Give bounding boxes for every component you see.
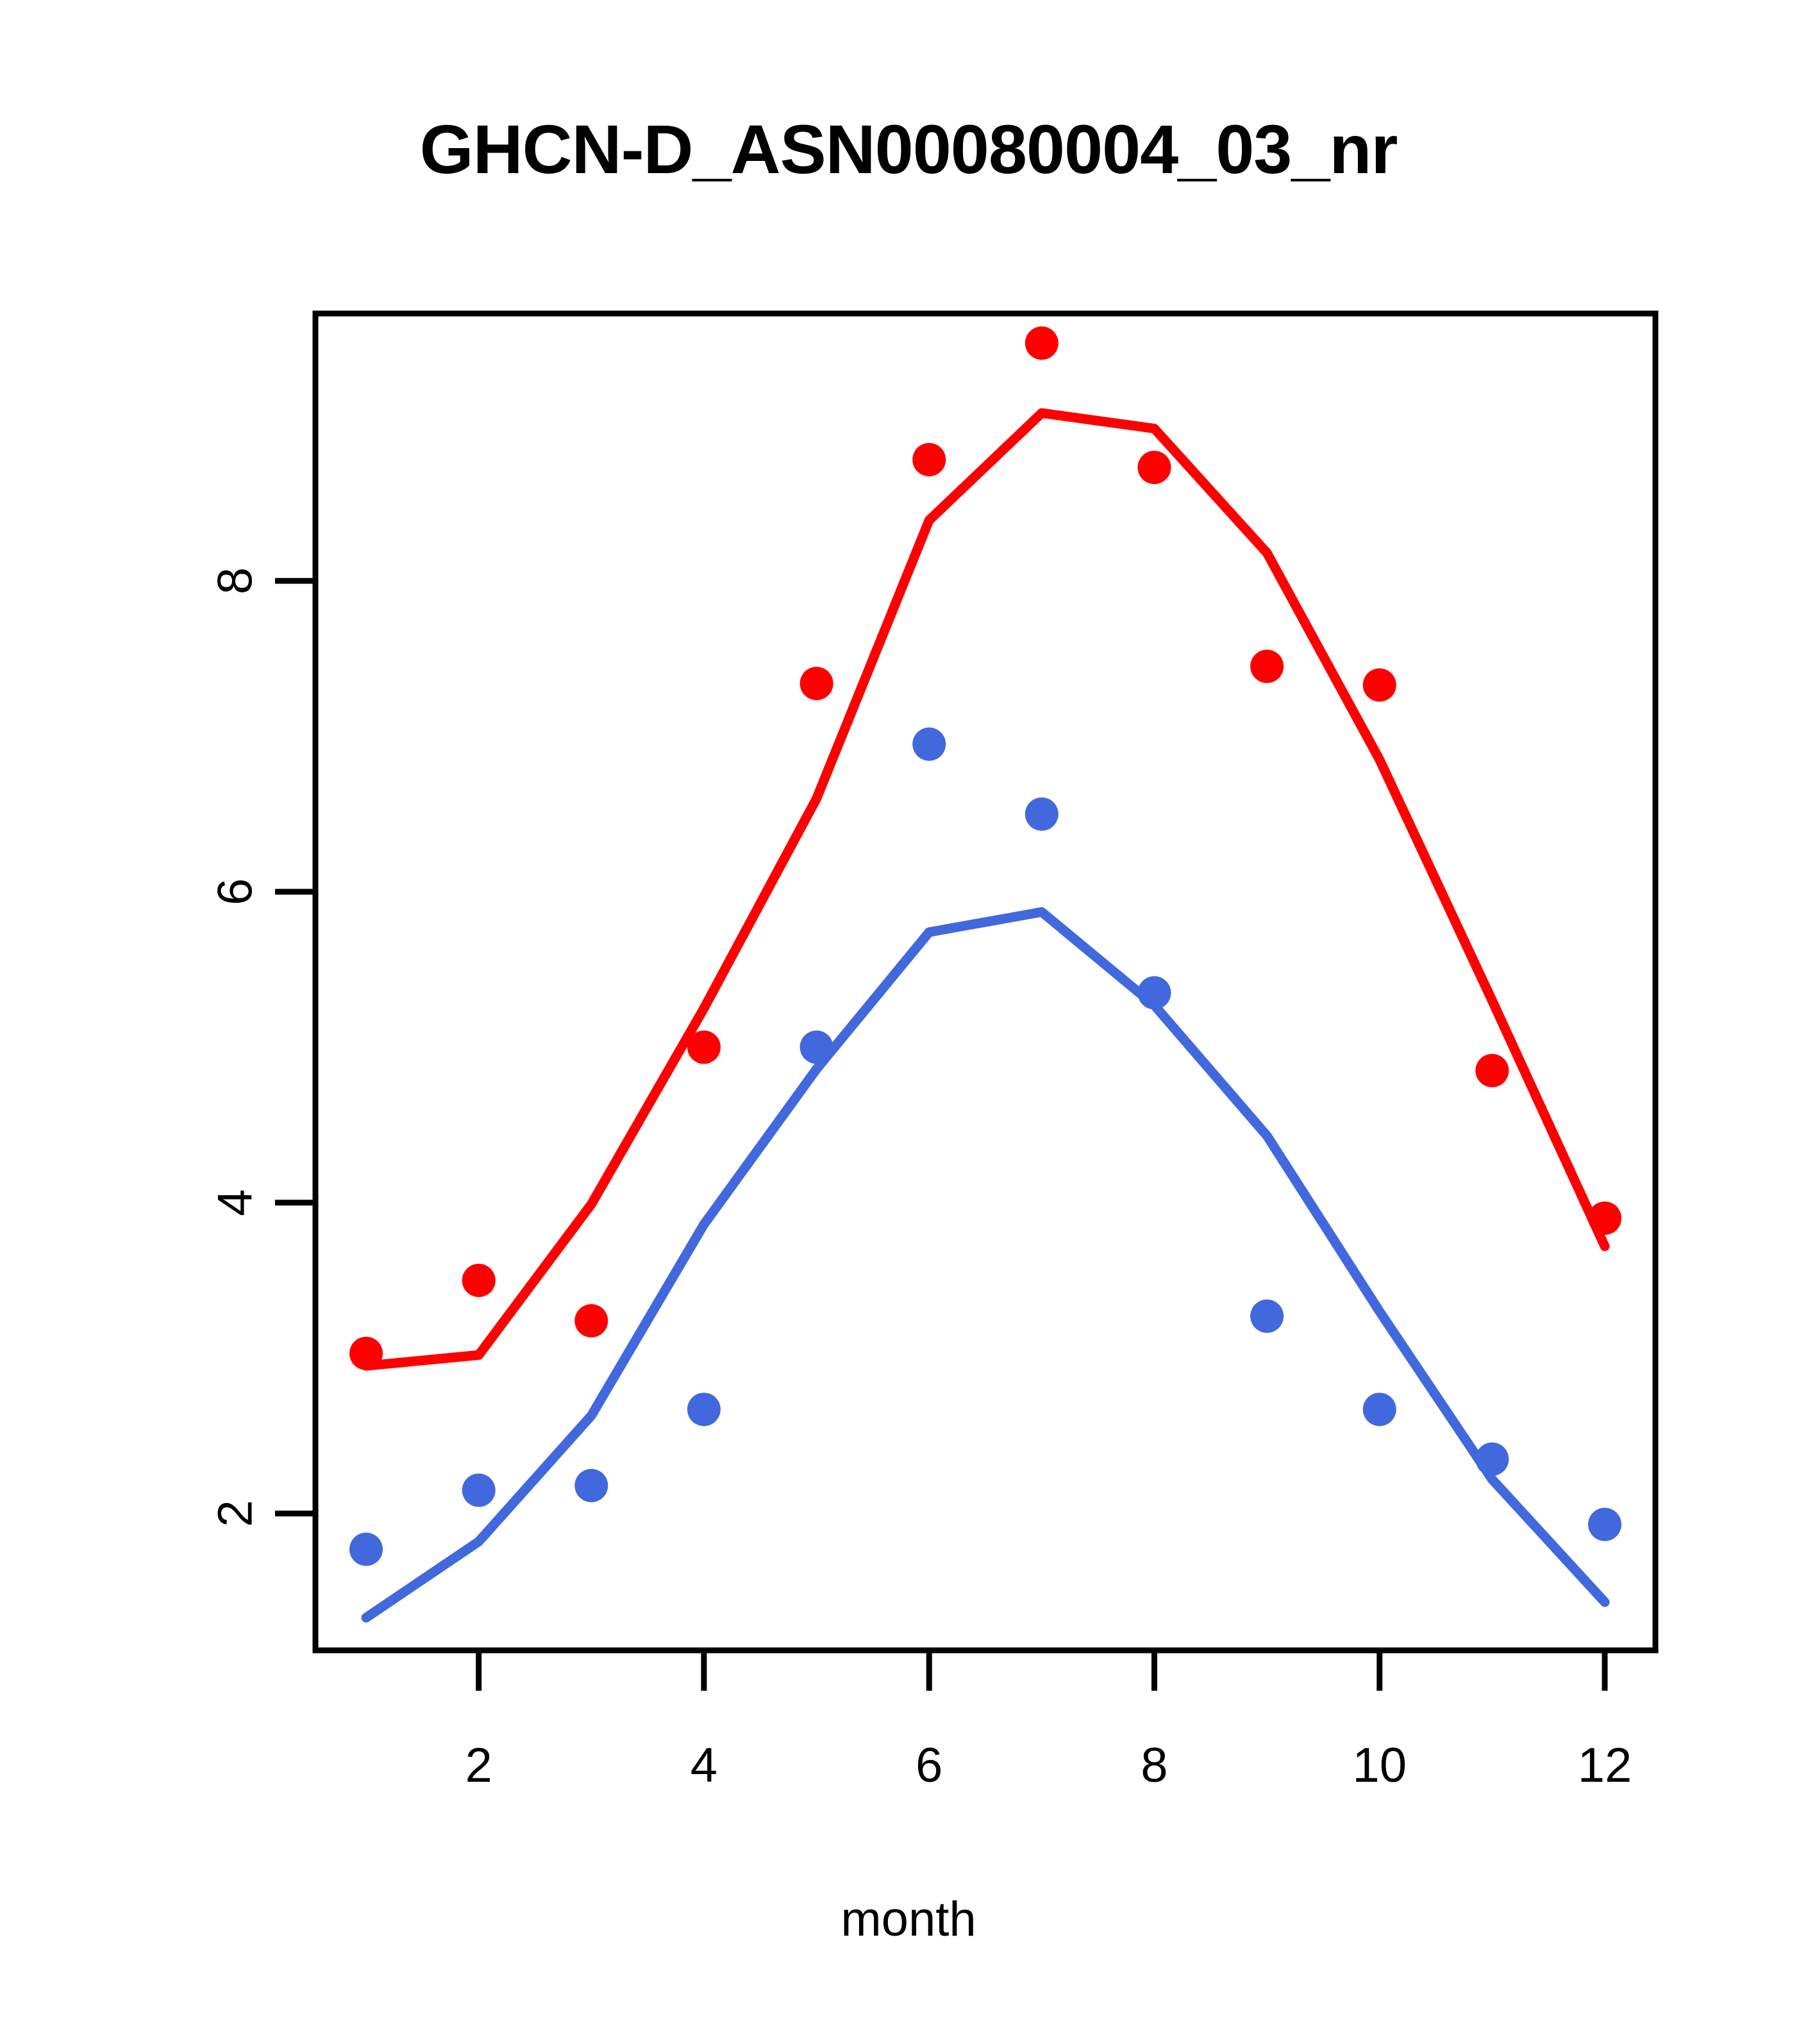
data-point-red-points-11 [1475,1054,1509,1087]
data-point-blue-points-8 [1137,976,1171,1010]
y-tick-label-4: 4 [208,1189,263,1216]
y-tick-label-2: 2 [208,1500,263,1527]
y-tick-label-6: 6 [208,878,263,905]
x-tick-label-6: 6 [916,1738,942,1793]
series-line-red-line [366,413,1605,1366]
data-point-blue-points-6 [912,728,946,761]
x-axis-ticks [479,1650,1605,1691]
x-axis-label: month [0,1891,1817,1947]
x-tick-label-2: 2 [465,1738,492,1793]
y-tick-label-8: 8 [208,567,263,594]
data-point-blue-points-1 [349,1532,383,1566]
data-point-blue-points-12 [1588,1508,1621,1541]
x-tick-label-10: 10 [1352,1738,1407,1793]
data-point-red-points-3 [574,1304,608,1337]
data-point-red-points-10 [1363,668,1396,701]
plot-frame [315,314,1655,1650]
data-point-red-points-2 [462,1264,496,1297]
data-point-blue-points-9 [1250,1300,1284,1333]
data-point-red-points-6 [912,443,946,476]
x-axis-tick-labels: 24681012 [465,1738,1632,1793]
data-point-blue-points-3 [574,1469,608,1502]
x-tick-label-4: 4 [691,1738,717,1793]
data-point-red-points-12 [1588,1202,1621,1235]
x-tick-label-12: 12 [1578,1738,1632,1793]
chart-series-lines [366,413,1605,1618]
data-point-red-points-1 [349,1337,383,1370]
data-point-red-points-7 [1025,326,1059,360]
data-point-red-points-9 [1250,649,1284,683]
data-point-blue-points-7 [1025,798,1059,831]
data-point-red-points-8 [1137,451,1171,484]
data-point-red-points-5 [800,667,833,700]
data-point-blue-points-5 [800,1030,833,1064]
data-point-blue-points-4 [687,1393,721,1426]
y-axis-ticks [275,581,315,1514]
data-point-blue-points-11 [1475,1443,1509,1476]
chart-canvas: 24681012 2468 [0,0,1817,2044]
data-point-blue-points-10 [1363,1393,1396,1426]
chart-page: GHCN-D_ASN00080004_03_nr 24681012 2468 m… [0,0,1817,2044]
data-point-red-points-4 [687,1030,721,1064]
x-tick-label-8: 8 [1141,1738,1168,1793]
data-point-blue-points-2 [462,1473,496,1507]
y-axis-tick-labels: 2468 [208,567,263,1527]
